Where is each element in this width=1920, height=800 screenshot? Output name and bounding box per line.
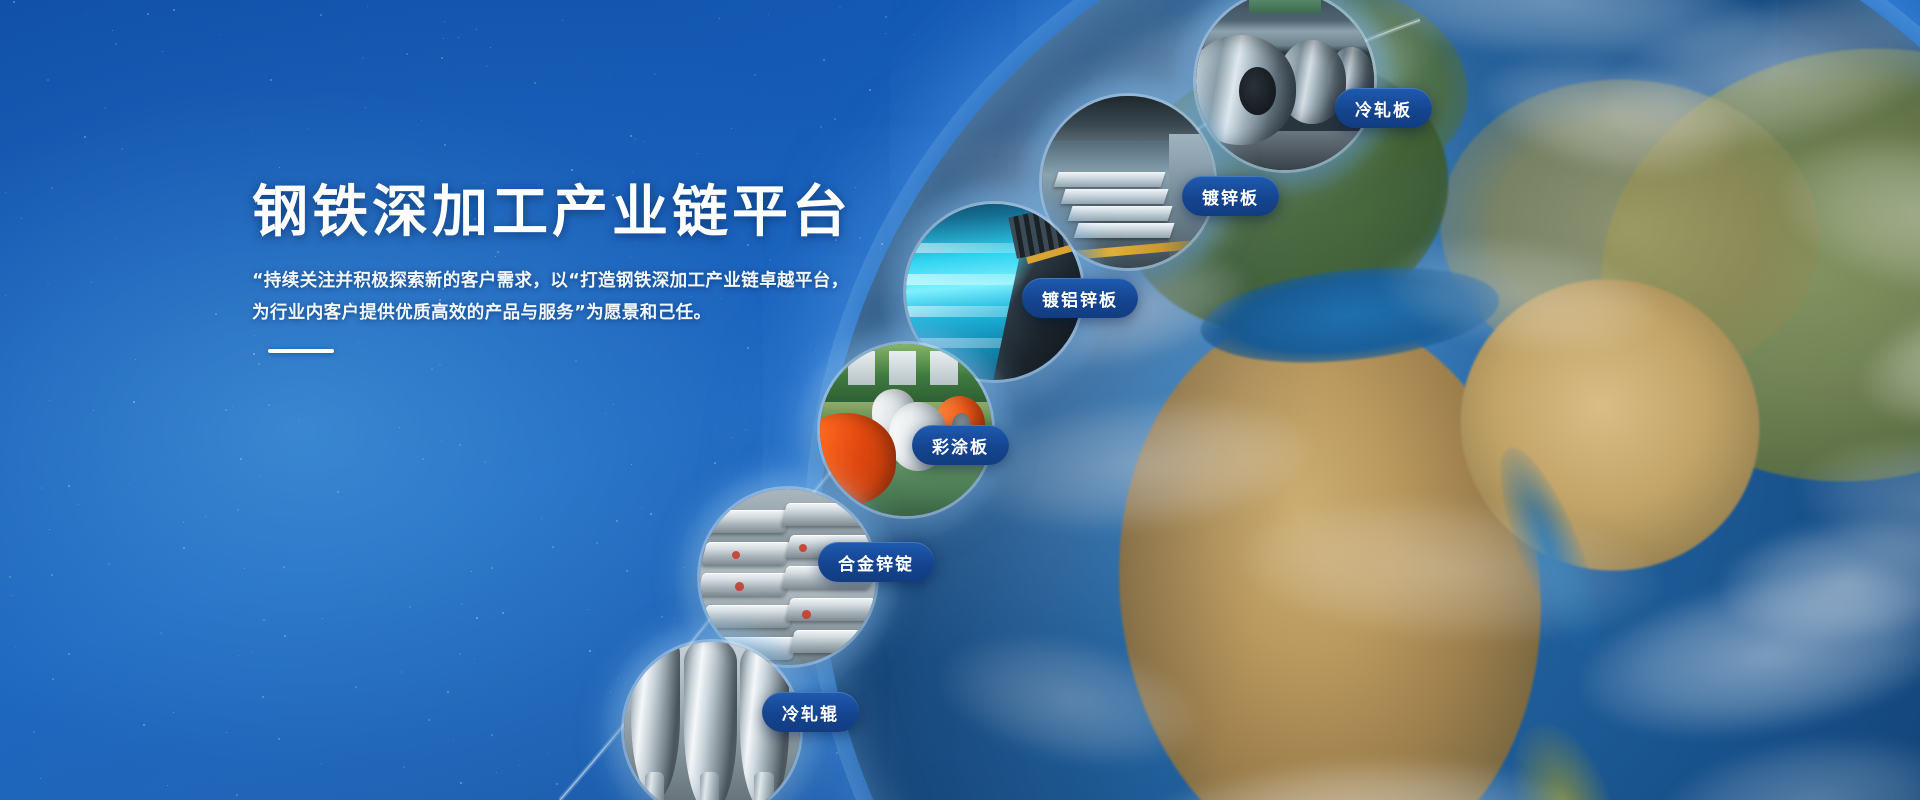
subtitle-text: “持续关注并积极探索新的客户需求，以“打造钢铁深加工产业链卓越平台， 为行业内客… [252,265,892,330]
subtitle-line-1: “持续关注并积极探索新的客户需求，以“打造钢铁深加工产业链卓越平台， [252,265,892,297]
product-label-color-coated-sheet[interactable]: 彩涂板 [912,425,1009,465]
product-label-galvalume-sheet[interactable]: 镀铝锌板 [1022,278,1138,318]
landmass-arabia [1419,237,1800,612]
product-label-cold-rolling-roll[interactable]: 冷轧辊 [762,692,859,732]
product-label-cold-rolled-sheet[interactable]: 冷轧板 [1335,88,1432,128]
hero-banner: 钢铁深加工产业链平台 “持续关注并积极探索新的客户需求，以“打造钢铁深加工产业链… [0,0,1920,800]
landmass-africa [1092,290,1568,800]
steel-coils-photo [1196,0,1374,170]
product-label-galvanized-sheet[interactable]: 镀锌板 [1182,176,1279,216]
landmass-asia [1567,8,1920,522]
subtitle-line-2: 为行业内客户提供优质高效的产品与服务”为愿景和己任。 [252,297,892,329]
title-underline-rule [268,349,334,353]
landmass-central-asia [1425,61,1834,399]
mediterranean-sea [1196,255,1504,376]
product-label-zinc-alloy-ingot[interactable]: 合金锌锭 [818,542,934,582]
product-thumbnail-cold-rolled-sheet[interactable] [1196,0,1374,170]
headline-block: 钢铁深加工产业链平台 “持续关注并积极探索新的客户需求，以“打造钢铁深加工产业链… [252,182,972,353]
red-sea [1481,437,1619,663]
landmass-sahara [1134,282,1586,598]
page-title: 钢铁深加工产业链平台 [252,182,972,245]
landmass-madagascar [1494,710,1637,800]
